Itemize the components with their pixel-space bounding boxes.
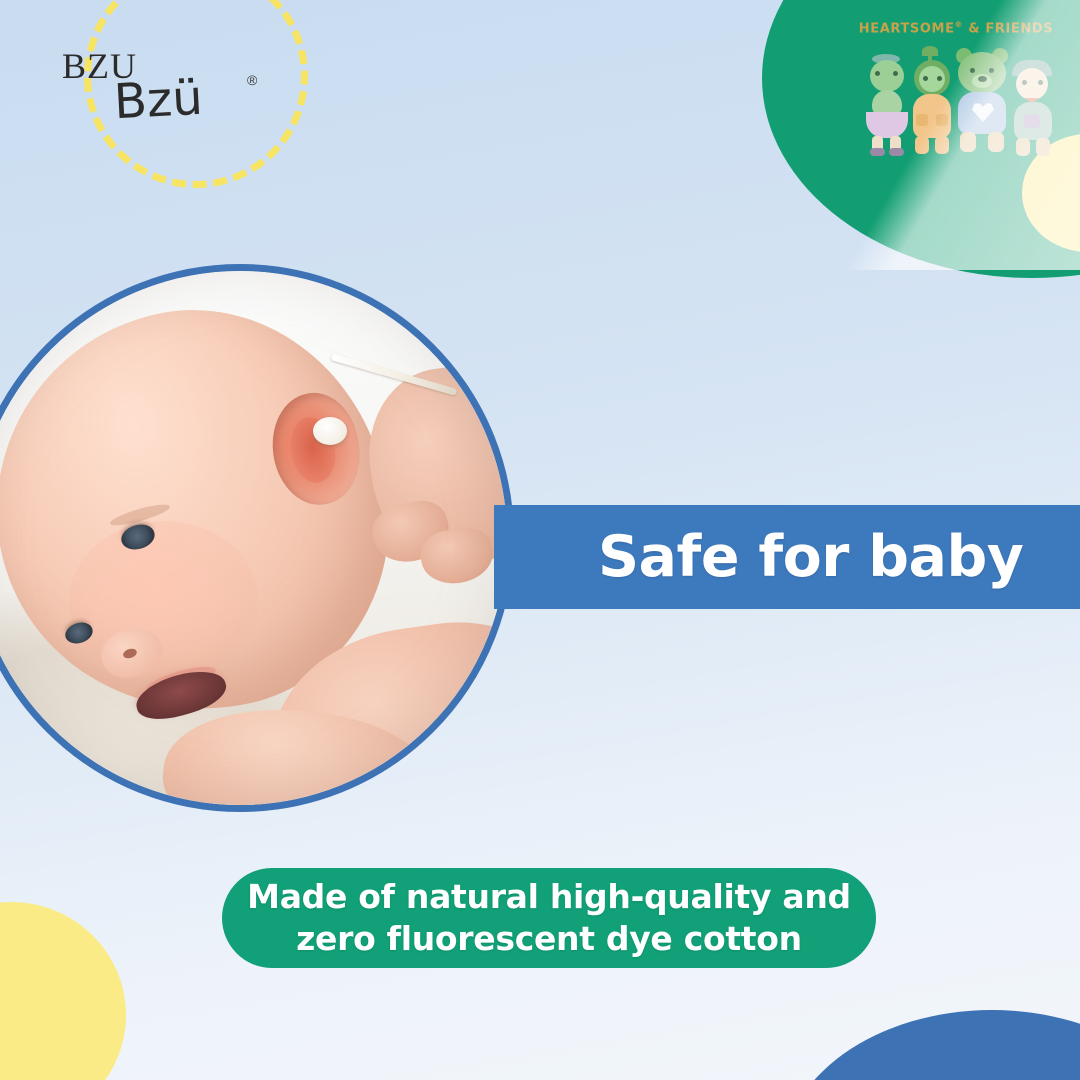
promo-poster: BZU Bzü ® HEARTSOME® & FRIENDS	[0, 0, 1080, 1080]
heartsome-title: HEARTSOME® & FRIENDS	[856, 20, 1056, 36]
hooded-child-leg-left	[915, 136, 929, 154]
boy-leg-left	[1016, 138, 1030, 156]
hooded-child-eye-left	[923, 76, 928, 81]
girl-skirt	[866, 112, 908, 138]
claim-line-1: Made of natural high-quality and	[247, 876, 851, 918]
character-girl-with-bow	[864, 52, 910, 156]
boy-leg-right	[1036, 138, 1050, 156]
hooded-child-leg-right	[935, 136, 949, 154]
boy-eye-left	[1022, 80, 1027, 85]
heartsome-registered-mark: ®	[955, 20, 964, 29]
claim-pill: Made of natural high-quality and zero fl…	[222, 868, 876, 968]
headline-text: Safe for baby	[598, 524, 1023, 590]
girl-eye-right	[893, 71, 898, 76]
heartsome-friends-logo: HEARTSOME® & FRIENDS	[856, 8, 1080, 168]
headline-banner: Safe for baby	[494, 505, 1080, 609]
brand-registered-mark: ®	[247, 72, 257, 88]
yellow-circle-bottom-decoration	[0, 902, 126, 1080]
character-hooded-child	[908, 50, 956, 156]
heartsome-characters-illustration	[864, 44, 1064, 156]
girl-shoe-right	[889, 148, 904, 156]
pocket-right	[936, 114, 948, 126]
girl-shoe-left	[870, 148, 885, 156]
character-teddy-bear	[954, 46, 1010, 156]
bear-leg-right	[988, 132, 1004, 152]
boy-pocket	[1024, 114, 1040, 128]
bear-eye-right	[989, 68, 994, 73]
bear-eye-left	[970, 68, 975, 73]
hooded-child-eye-right	[937, 76, 942, 81]
sprout-leaf-icon	[922, 46, 938, 56]
brand-logo-line2: Bzü	[113, 74, 204, 127]
pocket-left	[916, 114, 928, 126]
baby-photo	[0, 271, 507, 805]
girl-eye-left	[875, 71, 880, 76]
baby-photo-circle	[0, 264, 514, 812]
heartsome-title-text: HEARTSOME	[859, 21, 955, 36]
girl-head	[870, 60, 904, 92]
character-boy-with-cap	[1008, 54, 1058, 156]
heartsome-title-suffix: & FRIENDS	[968, 21, 1053, 36]
blue-circle-bottom-decoration	[782, 1010, 1080, 1080]
boy-head	[1016, 68, 1048, 100]
boy-eye-right	[1038, 80, 1043, 85]
bzu-brand-logo: BZU Bzü ®	[62, 6, 322, 166]
bear-leg-left	[960, 132, 976, 152]
claim-line-2: zero fluorescent dye cotton	[296, 918, 802, 960]
bear-nose	[978, 76, 987, 82]
